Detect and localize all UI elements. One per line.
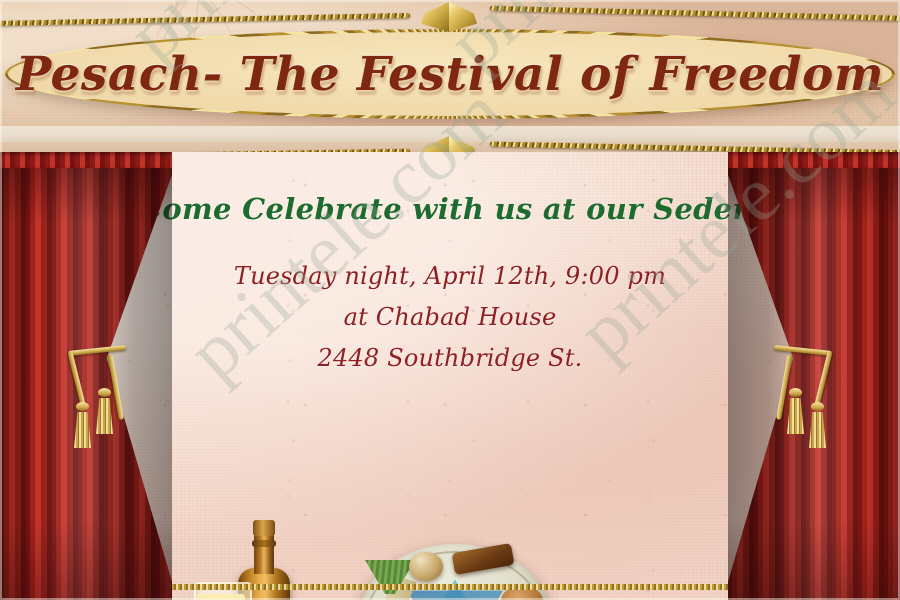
invitation-card: Pesach- The Festival of Freedom Come Cel… (0, 0, 900, 600)
tieback-cord-drop (68, 352, 86, 408)
tassel-icon (74, 402, 91, 448)
curtain-tieback-right (712, 340, 832, 460)
tassel-knob (76, 402, 89, 411)
bottle-cap (253, 520, 275, 536)
curtain-tieback-left (68, 340, 188, 460)
bottle-foil-ring (252, 540, 276, 547)
tassel-skirt (787, 398, 804, 434)
seder-plate: פסח (357, 544, 553, 600)
gold-fan-ornament-top-icon (421, 2, 477, 32)
tieback-cord-drop (814, 352, 832, 408)
fan-left-half-icon (421, 2, 449, 32)
curtain-right-valance (728, 152, 900, 168)
page-title: Pesach- The Festival of Freedom (8, 32, 892, 116)
tassel-skirt (74, 412, 91, 448)
fan-right-half-icon (449, 136, 477, 152)
tassel-knob (789, 388, 802, 397)
fan-left-half-icon (421, 136, 449, 152)
tieback-cord (68, 345, 126, 356)
gold-fan-ornament-mid-icon (421, 136, 477, 152)
tassel-knob (811, 402, 824, 411)
egg-beitzah-icon (409, 552, 443, 581)
bottom-gold-beaded-border (150, 584, 750, 590)
tassel-icon (96, 388, 113, 434)
tassel-icon (787, 388, 804, 434)
tassel-skirt (96, 398, 113, 434)
fan-right-half-icon (449, 2, 477, 32)
curtain-left-valance (0, 152, 172, 168)
title-banner: Pesach- The Festival of Freedom (8, 32, 892, 116)
glass-wine-fill (197, 594, 245, 600)
tassel-skirt (809, 412, 826, 448)
tassel-icon (809, 402, 826, 448)
tassel-knob (98, 388, 111, 397)
tieback-cord (774, 345, 832, 356)
header-zone: Pesach- The Festival of Freedom (0, 0, 900, 152)
